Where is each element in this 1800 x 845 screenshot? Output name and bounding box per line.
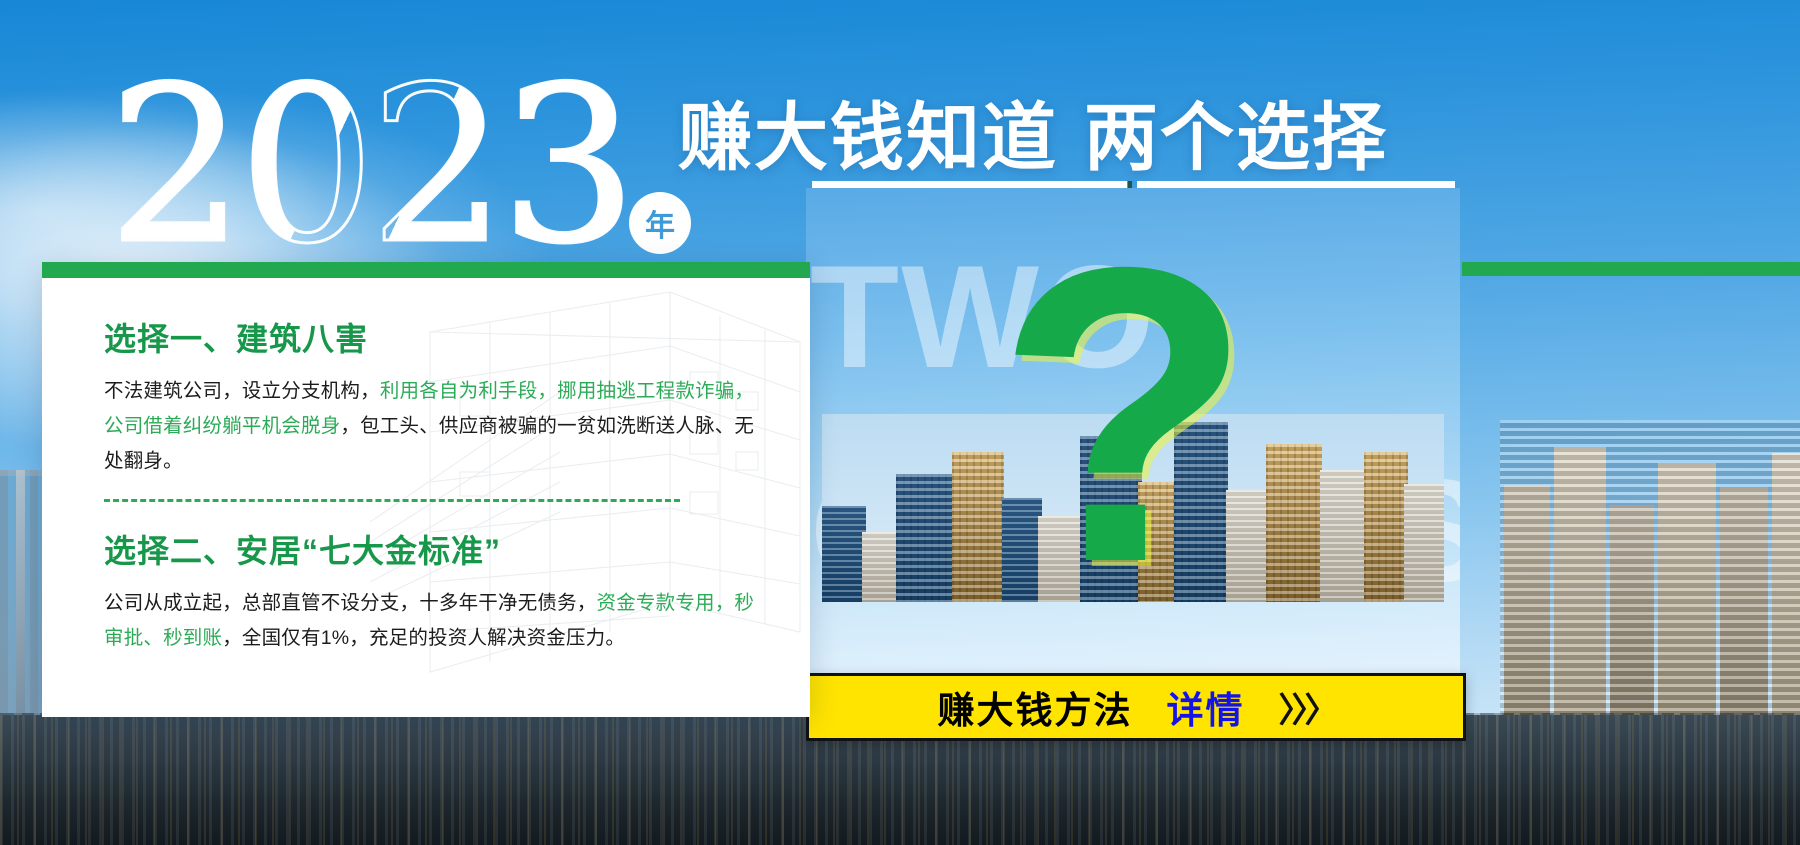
content-card: 选择一、建筑八害 不法建筑公司，设立分支机构，利用各自为利手段，挪用抽逃工程款诈… bbox=[42, 262, 810, 717]
card-top-accent-bar bbox=[42, 262, 810, 278]
banner-root: 2023 2023 年 赚大钱知道两个选择 TWO CHOICES bbox=[0, 0, 1800, 845]
page-title: 赚大钱知道两个选择 bbox=[678, 78, 1388, 185]
section-two-run-1: 公司从成立起，总部直管不设分支，十多年干净无债务， bbox=[104, 592, 597, 614]
section-two: 选择二、安居“七大金标准” 公司从成立起，总部直管不设分支，十多年干净无债务，资… bbox=[104, 526, 769, 656]
section-two-body: 公司从成立起，总部直管不设分支，十多年干净无债务，资金专款专用，秒审批、秒到账，… bbox=[104, 586, 769, 656]
chevron-right-icon: 〉〉〉 bbox=[1279, 683, 1335, 732]
question-mark-graphic: ? bbox=[996, 206, 1253, 626]
section-one-title: 选择一、建筑八害 bbox=[104, 314, 769, 360]
right-visual-panel: TWO CHOICES ? bbox=[806, 188, 1460, 688]
year-fill-decor: 2023 bbox=[108, 62, 708, 272]
year-unit-badge: 年 bbox=[629, 192, 691, 254]
cta-button[interactable]: 赚大钱方法 详情 〉〉〉 bbox=[806, 673, 1466, 741]
headline-part-2: 两个选择 bbox=[1084, 96, 1388, 179]
section-one-run-1: 不法建筑公司，设立分支机构， bbox=[104, 380, 380, 402]
cta-label: 赚大钱方法 bbox=[938, 680, 1133, 734]
cta-link-label: 详情 bbox=[1167, 680, 1245, 734]
green-accent-bar-right bbox=[1462, 262, 1800, 276]
headline-part-1: 赚大钱知道 bbox=[678, 96, 1058, 179]
bridge-pylon-decor bbox=[16, 470, 25, 720]
far-right-skyline bbox=[1500, 420, 1800, 715]
card-body: 选择一、建筑八害 不法建筑公司，设立分支机构，利用各自为利手段，挪用抽逃工程款诈… bbox=[104, 314, 769, 656]
section-two-title: 选择二、安居“七大金标准” bbox=[104, 526, 769, 572]
section-one-body: 不法建筑公司，设立分支机构，利用各自为利手段，挪用抽逃工程款诈骗，公司借着纠纷躺… bbox=[104, 374, 769, 479]
section-two-run-3: ，全国仅有1%，充足的投资人解决资金压力。 bbox=[222, 627, 625, 649]
section-one: 选择一、建筑八害 不法建筑公司，设立分支机构，利用各自为利手段，挪用抽逃工程款诈… bbox=[104, 314, 769, 479]
section-divider bbox=[104, 499, 680, 502]
